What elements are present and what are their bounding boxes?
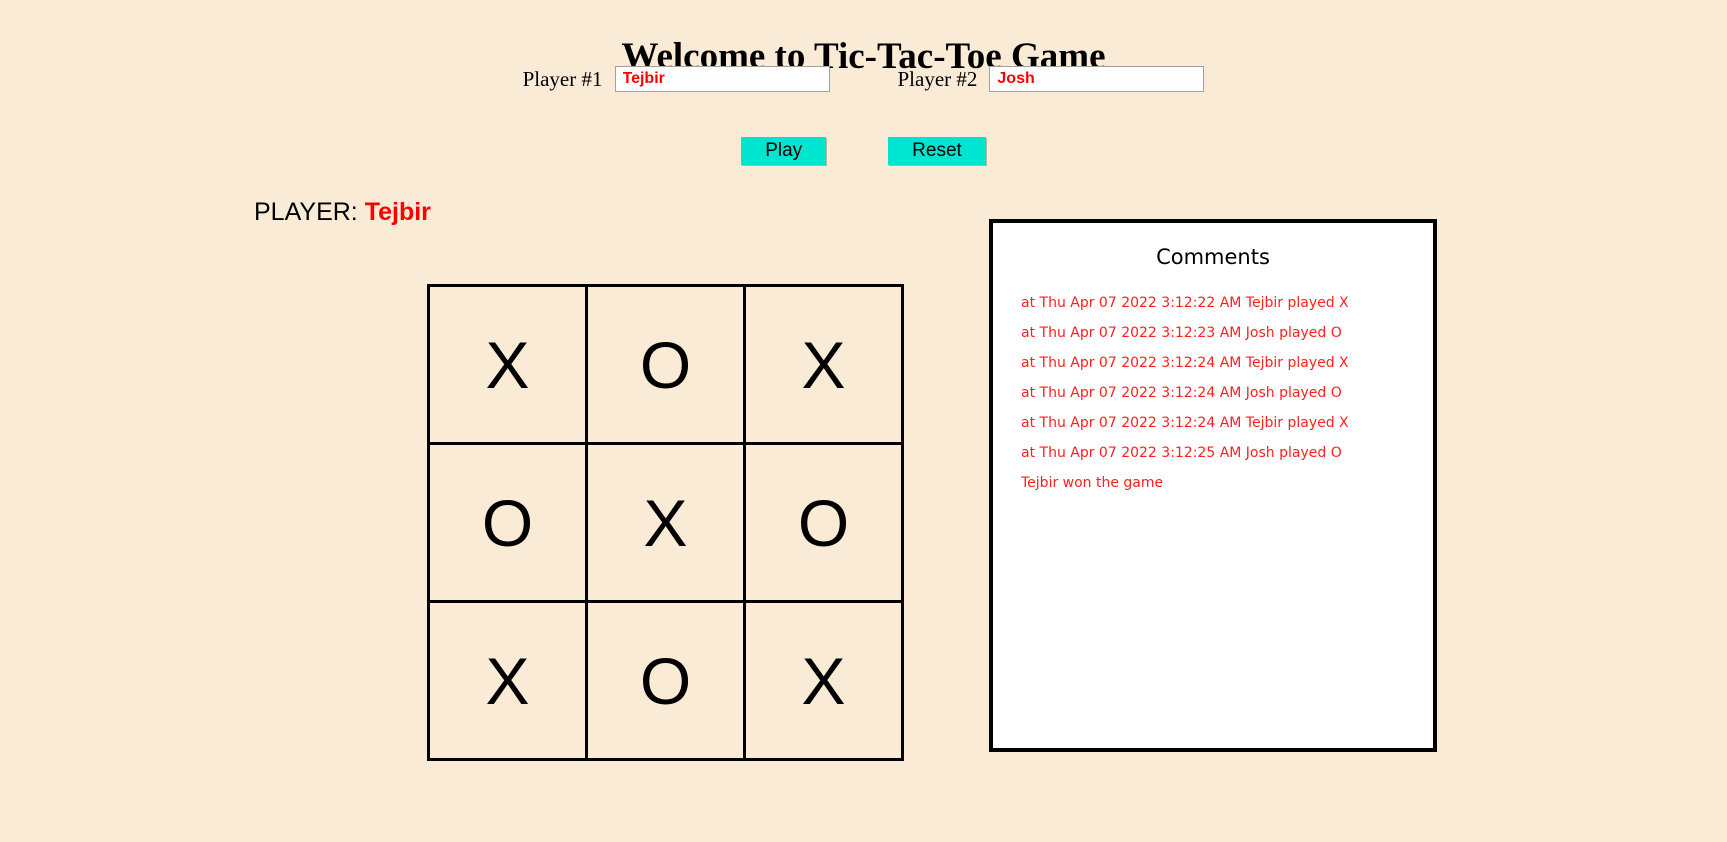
board-cell-0-0[interactable]: X	[429, 286, 587, 444]
control-button-row: Play Reset	[0, 137, 1727, 165]
board-cell-1-0[interactable]: O	[429, 444, 587, 602]
board-row: X O X	[429, 286, 903, 444]
comment-item: at Thu Apr 07 2022 3:12:23 AM Josh playe…	[1021, 325, 1433, 341]
current-player-name: Tejbir	[365, 198, 431, 226]
board-cell-0-1[interactable]: O	[587, 286, 745, 444]
play-button[interactable]: Play	[741, 137, 826, 165]
board-cell-2-1[interactable]: O	[587, 602, 745, 760]
comments-title: Comments	[993, 245, 1433, 269]
tic-tac-toe-board: X O X O X O X O X	[427, 284, 904, 761]
board-cell-0-2[interactable]: X	[745, 286, 903, 444]
board-cell-1-1[interactable]: X	[587, 444, 745, 602]
player2-name-input[interactable]	[989, 66, 1204, 92]
player2-label: Player #2	[898, 67, 978, 92]
board-cell-2-2[interactable]: X	[745, 602, 903, 760]
reset-button[interactable]: Reset	[888, 137, 986, 165]
player1-name-input[interactable]	[615, 66, 830, 92]
comment-item: at Thu Apr 07 2022 3:12:22 AM Tejbir pla…	[1021, 295, 1433, 311]
comments-panel: Comments at Thu Apr 07 2022 3:12:22 AM T…	[989, 219, 1437, 752]
comment-item: at Thu Apr 07 2022 3:12:25 AM Josh playe…	[1021, 445, 1433, 461]
current-player-prefix: PLAYER:	[254, 198, 358, 226]
current-player-status: PLAYER: Tejbir	[254, 198, 431, 227]
comment-item: Tejbir won the game	[1021, 475, 1433, 491]
board-row: X O X	[429, 602, 903, 760]
player-name-row: Player #1 Player #2	[0, 66, 1727, 92]
board-row: O X O	[429, 444, 903, 602]
comment-item: at Thu Apr 07 2022 3:12:24 AM Tejbir pla…	[1021, 355, 1433, 371]
comment-item: at Thu Apr 07 2022 3:12:24 AM Tejbir pla…	[1021, 415, 1433, 431]
comment-item: at Thu Apr 07 2022 3:12:24 AM Josh playe…	[1021, 385, 1433, 401]
board-cell-2-0[interactable]: X	[429, 602, 587, 760]
comments-list: at Thu Apr 07 2022 3:12:22 AM Tejbir pla…	[993, 295, 1433, 491]
board-cell-1-2[interactable]: O	[745, 444, 903, 602]
player1-label: Player #1	[523, 67, 603, 92]
